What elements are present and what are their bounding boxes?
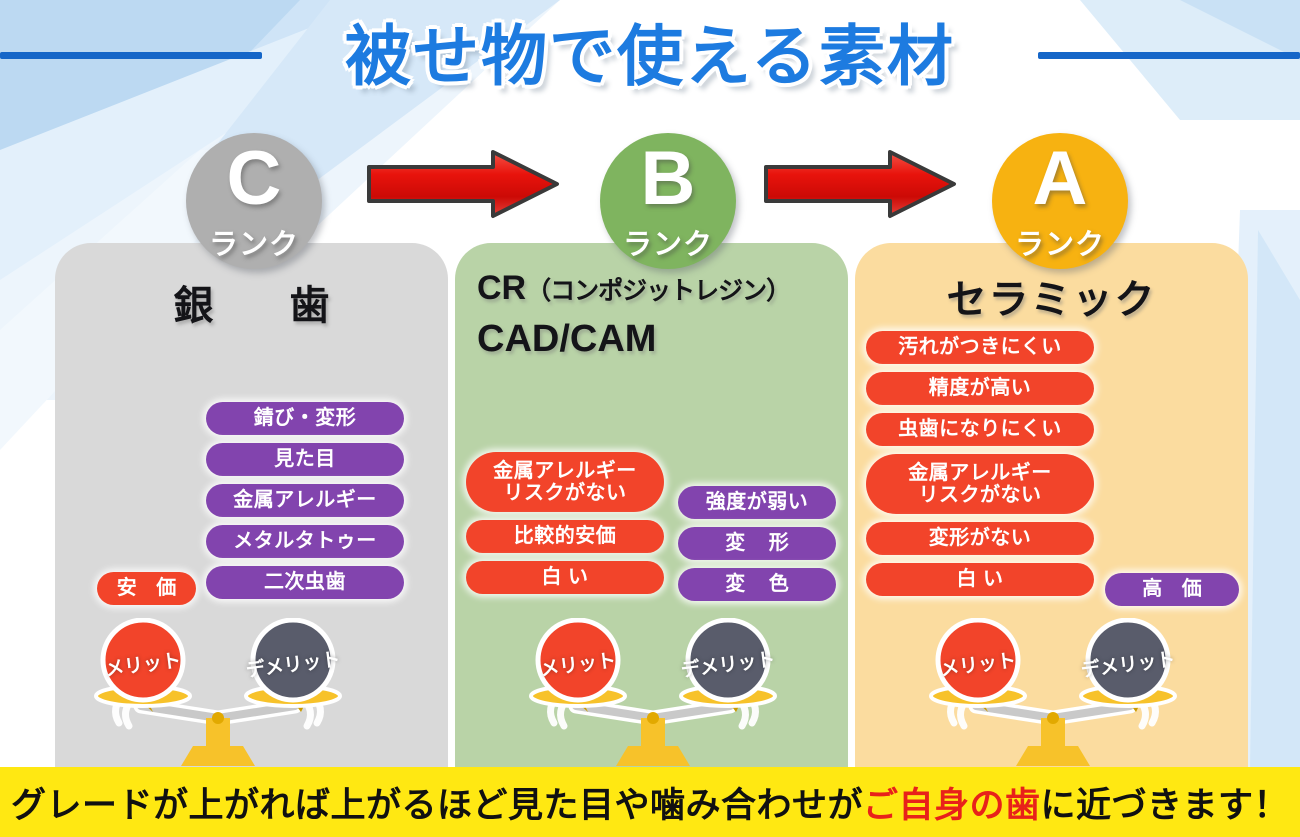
- banner-text: グレードが上がれば上がるほど見た目や噛み合わせがご自身の歯に近づきます！: [11, 777, 1289, 828]
- merit-list-c: 安 価: [97, 572, 196, 605]
- infographic-root: 被せ物で使える素材 銀 歯 CR（コンポジットレジン） CAD/CAM セラミッ…: [0, 0, 1300, 837]
- balance-scale-a: メリット デメリット: [928, 618, 1178, 768]
- merit-pill: 比較的安価: [466, 520, 664, 553]
- bottom-banner: グレードが上がれば上がるほど見た目や噛み合わせがご自身の歯に近づきます！: [0, 767, 1300, 837]
- rank-label: ランク: [600, 221, 736, 263]
- merit-pill: 変形がない: [866, 522, 1094, 555]
- balance-scale-c: メリット デメリット: [93, 618, 343, 768]
- rank-badge-c: C ランク: [186, 133, 322, 269]
- merit-pill: 汚れがつきにくい: [866, 331, 1094, 364]
- column-title-b: CR（コンポジットレジン） CAD/CAM: [477, 267, 837, 363]
- merit-pill: 白 い: [466, 561, 664, 594]
- merit-pill: 金属アレルギー リスクがない: [866, 454, 1094, 514]
- demerit-pill: 変 形: [678, 527, 836, 560]
- merit-pill: 金属アレルギー リスクがない: [466, 452, 664, 512]
- column-title-c: 銀 歯: [55, 273, 448, 331]
- column-title-b-line2: CAD/CAM: [477, 315, 837, 364]
- demerit-pill: 高 価: [1105, 573, 1239, 606]
- arrow-c-to-b-icon: [365, 148, 561, 220]
- demerit-pill: 錆び・変形: [206, 402, 404, 435]
- page-header: 被せ物で使える素材: [0, 0, 1300, 112]
- rank-badge-b: B ランク: [600, 133, 736, 269]
- merit-pill: 精度が高い: [866, 372, 1094, 405]
- demerit-list-a: 高 価: [1105, 573, 1239, 606]
- banner-text-before: グレードが上がれば上がるほど見た目や噛み合わせが: [11, 786, 863, 825]
- rank-badge-a: A ランク: [992, 133, 1128, 269]
- merit-pill: 安 価: [97, 572, 196, 605]
- banner-text-after: に近づきます！: [1041, 786, 1290, 825]
- rank-letter: C: [186, 129, 322, 229]
- merit-list-a: 汚れがつきにくい 精度が高い 虫歯になりにくい 金属アレルギー リスクがない 変…: [866, 331, 1094, 596]
- merit-pill: 白 い: [866, 563, 1094, 596]
- demerit-pill: メタルタトゥー: [206, 525, 404, 558]
- rank-label: ランク: [992, 221, 1128, 263]
- demerit-list-c: 錆び・変形 見た目 金属アレルギー メタルタトゥー 二次虫歯: [206, 402, 404, 599]
- page-title: 被せ物で使える素材: [0, 2, 1300, 110]
- column-title-b-paren: （コンポジットレジン）: [526, 277, 790, 305]
- banner-highlight: ご自身の歯: [863, 786, 1041, 825]
- column-title-a: セラミック: [855, 267, 1248, 325]
- demerit-pill: 見た目: [206, 443, 404, 476]
- arrow-b-to-a-icon: [762, 148, 958, 220]
- rank-label: ランク: [186, 221, 322, 263]
- demerit-pill: 変 色: [678, 568, 836, 601]
- rank-letter: B: [600, 129, 736, 229]
- demerit-pill: 二次虫歯: [206, 566, 404, 599]
- column-title-b-main: CR: [477, 269, 526, 307]
- demerit-pill: 金属アレルギー: [206, 484, 404, 517]
- merit-list-b: 金属アレルギー リスクがない 比較的安価 白 い: [466, 452, 664, 594]
- merit-pill: 虫歯になりにくい: [866, 413, 1094, 446]
- demerit-pill: 強度が弱い: [678, 486, 836, 519]
- rank-letter: A: [992, 129, 1128, 229]
- demerit-list-b: 強度が弱い 変 形 変 色: [678, 486, 836, 601]
- balance-scale-b: メリット デメリット: [528, 618, 778, 768]
